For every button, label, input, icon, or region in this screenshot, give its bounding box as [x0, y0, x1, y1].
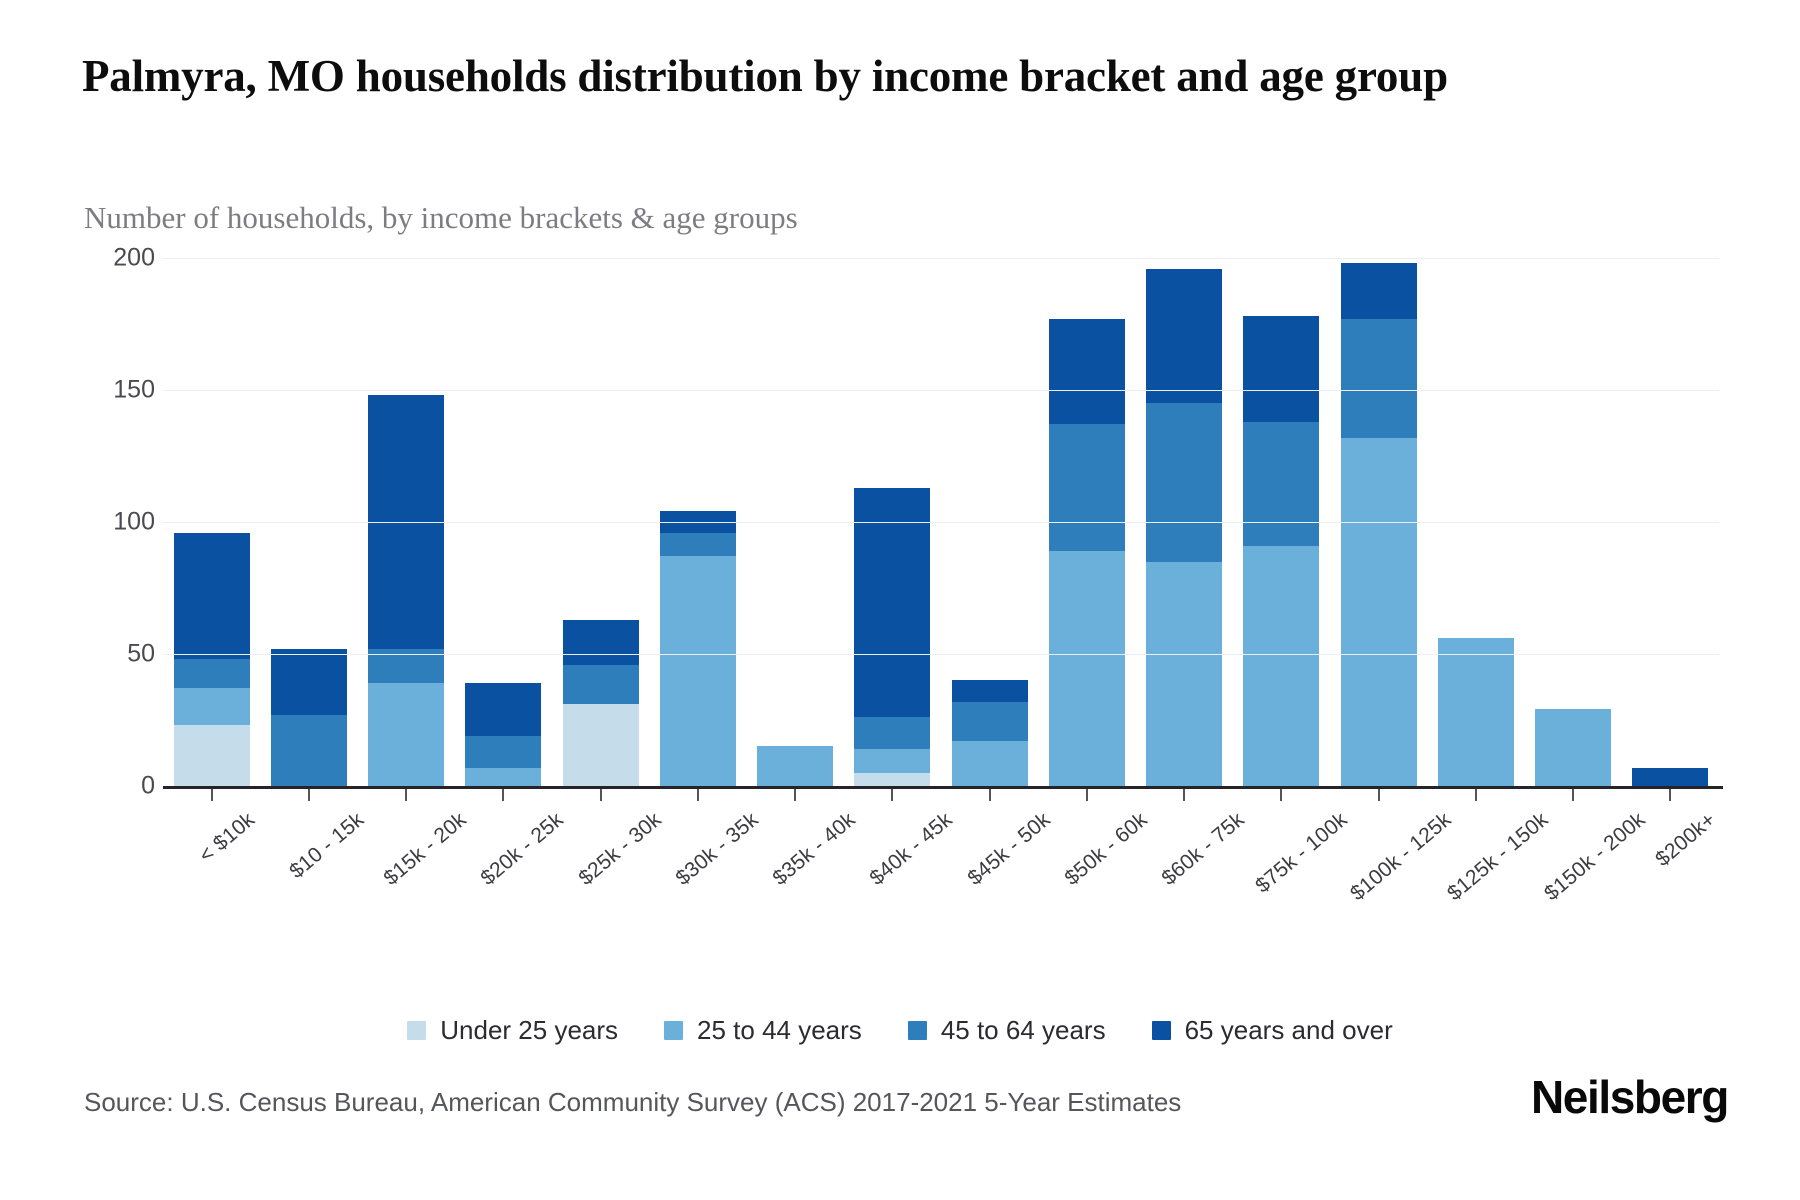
bar-segment[interactable] [368, 683, 444, 786]
x-tick-mark [1086, 789, 1088, 801]
stacked-bar[interactable] [1146, 269, 1222, 786]
gridline [163, 522, 1719, 523]
x-tick-mark [794, 789, 796, 801]
x-tick-mark [211, 789, 213, 801]
bar-segment[interactable] [854, 717, 930, 749]
legend-label: Under 25 years [440, 1015, 618, 1046]
x-tick-mark [1280, 789, 1282, 801]
x-tick-slot [260, 789, 357, 803]
stacked-bar[interactable] [1535, 709, 1611, 786]
x-tick-slot [1330, 789, 1427, 803]
x-tick-mark [1669, 789, 1671, 801]
bar-segment[interactable] [952, 680, 1028, 701]
x-tick-slot [747, 789, 844, 803]
stacked-bar[interactable] [660, 511, 736, 786]
stacked-bar[interactable] [174, 533, 250, 786]
source-note: Source: U.S. Census Bureau, American Com… [84, 1087, 1181, 1118]
x-tick-slot [455, 789, 552, 803]
x-tick-slot [1622, 789, 1719, 803]
x-tick-slot [1136, 789, 1233, 803]
plot-area [163, 258, 1719, 786]
stacked-bar[interactable] [952, 680, 1028, 786]
bar-segment[interactable] [1049, 319, 1125, 425]
stacked-bar[interactable] [1438, 638, 1514, 786]
x-axis-labels: < $10k$10 - 15k$15k - 20k$20k - 25k$25k … [163, 802, 1719, 912]
bar-segment[interactable] [1632, 768, 1708, 786]
x-label-slot: $100k - 125k [1330, 802, 1427, 912]
y-axis-tick-label: 50 [127, 640, 155, 669]
bar-segment[interactable] [271, 715, 347, 786]
x-label-slot: $40k - 45k [844, 802, 941, 912]
page-title: Palmyra, MO households distribution by i… [82, 48, 1622, 106]
gridline [163, 258, 1719, 259]
chart-subtitle: Number of households, by income brackets… [84, 200, 1484, 236]
bar-segment[interactable] [952, 702, 1028, 742]
legend-label: 25 to 44 years [697, 1015, 862, 1046]
bar-segment[interactable] [757, 746, 833, 786]
bar-segment[interactable] [1243, 422, 1319, 546]
x-tick-slot [649, 789, 746, 803]
bar-segment[interactable] [271, 649, 347, 715]
x-label-slot: $15k - 20k [358, 802, 455, 912]
x-tick-mark [697, 789, 699, 801]
x-tick-slot [1038, 789, 1135, 803]
stacked-bar[interactable] [563, 620, 639, 786]
x-tick-slot [1427, 789, 1524, 803]
legend-item[interactable]: Under 25 years [407, 1015, 618, 1046]
legend-label: 45 to 64 years [941, 1015, 1106, 1046]
stacked-bar[interactable] [1243, 316, 1319, 786]
x-tick-mark [600, 789, 602, 801]
bar-segment[interactable] [1341, 438, 1417, 786]
stacked-bar[interactable] [1049, 319, 1125, 786]
bar-segment[interactable] [1146, 403, 1222, 561]
chart-page: Palmyra, MO households distribution by i… [0, 0, 1800, 1200]
x-tick-mark [1475, 789, 1477, 801]
x-tick-mark [308, 789, 310, 801]
bar-segment[interactable] [1438, 638, 1514, 786]
bar-segment[interactable] [952, 741, 1028, 786]
bar-segment[interactable] [1146, 562, 1222, 786]
bar-segment[interactable] [563, 620, 639, 665]
bar-segment[interactable] [1535, 709, 1611, 786]
x-label-slot: $30k - 35k [649, 802, 746, 912]
y-axis-tick-label: 0 [141, 772, 155, 801]
legend-swatch-icon [908, 1021, 927, 1040]
stacked-bar[interactable] [1632, 768, 1708, 786]
bar-segment[interactable] [854, 773, 930, 786]
bar-segment[interactable] [174, 725, 250, 786]
stacked-bar[interactable] [757, 746, 833, 786]
x-tick-slot [1525, 789, 1622, 803]
bar-segment[interactable] [1146, 269, 1222, 404]
bar-segment[interactable] [563, 704, 639, 786]
bar-segment[interactable] [660, 533, 736, 557]
x-tick-mark [405, 789, 407, 801]
legend-item[interactable]: 65 years and over [1152, 1015, 1393, 1046]
x-tick-slot [358, 789, 455, 803]
x-label-slot: $45k - 50k [941, 802, 1038, 912]
x-tick-mark [891, 789, 893, 801]
bar-segment[interactable] [1243, 316, 1319, 422]
x-tick-mark [1572, 789, 1574, 801]
bar-segment[interactable] [563, 665, 639, 705]
x-label-slot: $35k - 40k [747, 802, 844, 912]
bar-segment[interactable] [174, 688, 250, 725]
chart-legend[interactable]: Under 25 years25 to 44 years45 to 64 yea… [0, 1015, 1800, 1046]
gridline [163, 654, 1719, 655]
x-tick-mark [1378, 789, 1380, 801]
x-tick-slot [844, 789, 941, 803]
x-label-slot: $20k - 25k [455, 802, 552, 912]
legend-swatch-icon [407, 1021, 426, 1040]
legend-item[interactable]: 45 to 64 years [908, 1015, 1106, 1046]
stacked-bar[interactable] [368, 395, 444, 786]
bar-segment[interactable] [465, 683, 541, 736]
legend-label: 65 years and over [1185, 1015, 1393, 1046]
y-axis-tick-label: 100 [113, 508, 155, 537]
x-tick-mark [1183, 789, 1185, 801]
x-axis-tick-label: < $10k [194, 808, 259, 868]
gridline [163, 390, 1719, 391]
x-axis-ticks [163, 789, 1719, 803]
x-label-slot: $25k - 30k [552, 802, 649, 912]
legend-item[interactable]: 25 to 44 years [664, 1015, 862, 1046]
stacked-bar[interactable] [854, 488, 930, 786]
x-tick-slot [163, 789, 260, 803]
y-axis-tick-label: 150 [113, 376, 155, 405]
bar-segment[interactable] [1341, 319, 1417, 438]
stacked-bar[interactable] [1341, 263, 1417, 786]
bar-segment[interactable] [1243, 546, 1319, 786]
legend-swatch-icon [664, 1021, 683, 1040]
x-label-slot: $200k+ [1622, 802, 1719, 912]
x-label-slot: $60k - 75k [1136, 802, 1233, 912]
bar-segment[interactable] [854, 749, 930, 773]
x-label-slot: $150k - 200k [1525, 802, 1622, 912]
bar-segment[interactable] [465, 768, 541, 786]
x-tick-mark [502, 789, 504, 801]
x-label-slot: $50k - 60k [1038, 802, 1135, 912]
x-label-slot: $75k - 100k [1233, 802, 1330, 912]
x-tick-slot [1233, 789, 1330, 803]
x-label-slot: $125k - 150k [1427, 802, 1524, 912]
bar-segment[interactable] [174, 659, 250, 688]
stacked-bar[interactable] [465, 683, 541, 786]
bar-segment[interactable] [660, 556, 736, 786]
x-label-slot: $10 - 15k [260, 802, 357, 912]
bar-segment[interactable] [1049, 551, 1125, 786]
x-tick-slot [552, 789, 649, 803]
legend-swatch-icon [1152, 1021, 1171, 1040]
x-tick-mark [989, 789, 991, 801]
bar-segment[interactable] [174, 533, 250, 660]
x-axis-tick-label: $10 - 15k [285, 808, 369, 884]
x-label-slot: < $10k [163, 802, 260, 912]
stacked-bar[interactable] [271, 649, 347, 786]
brand-logo: Neilsberg [1531, 1070, 1728, 1124]
bar-segment[interactable] [1049, 424, 1125, 551]
x-tick-slot [941, 789, 1038, 803]
y-axis-tick-label: 200 [113, 244, 155, 273]
x-axis-tick-label: $200k+ [1652, 808, 1722, 872]
bar-segment[interactable] [465, 736, 541, 768]
bar-segment[interactable] [1341, 263, 1417, 318]
